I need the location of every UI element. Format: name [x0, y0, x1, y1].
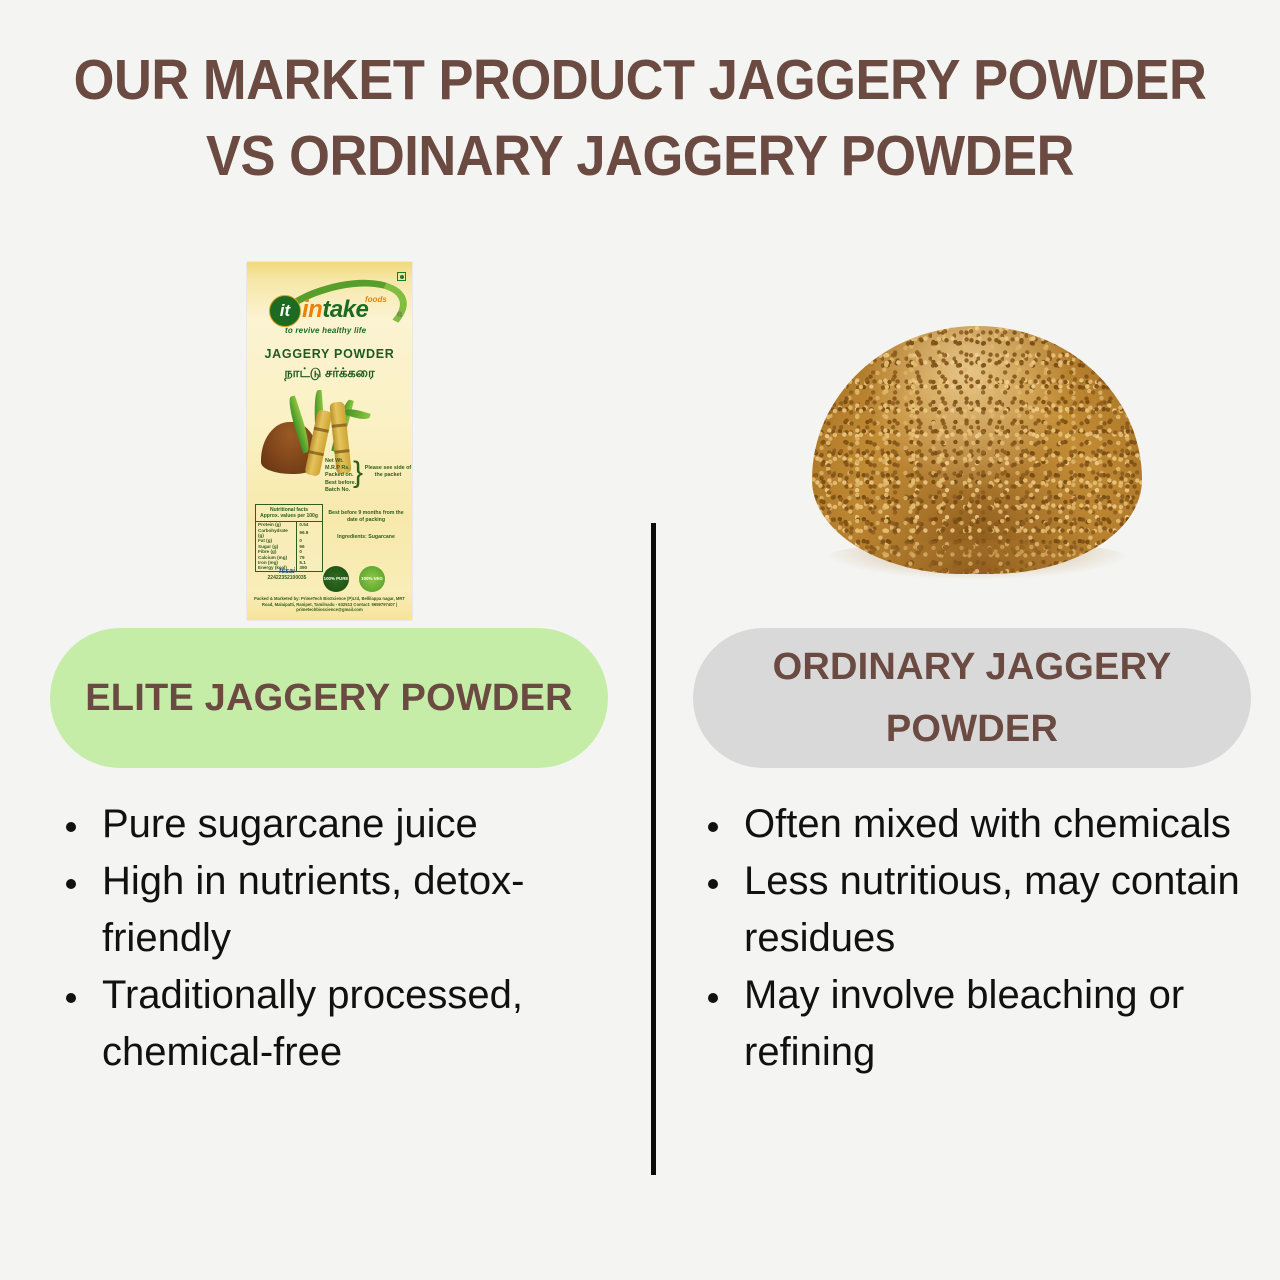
logo-foods-text: foods — [365, 295, 387, 304]
fssai-number: 22422352100035 — [255, 575, 319, 581]
logo-wordmark-take: take — [322, 296, 368, 323]
ordinary-drawbacks-list: Often mixed with chemicalsLess nutritiou… — [700, 796, 1280, 1081]
powder-grain-texture — [812, 326, 1142, 574]
badge-100-pure-icon: 100% PURE — [323, 566, 349, 592]
field-best-before: Best before. — [325, 480, 356, 487]
package-side-fields: Net Wt. M.R.P Rs. Packed on. Best before… — [325, 458, 356, 494]
nutrition-heading-line1: Nutritional facts — [257, 507, 321, 514]
brand-logo: it intake foods ® to revive healthy life — [247, 282, 412, 344]
nutrition-rows: Protein (g)0.54Carbohydrate (g)96.9Fat (… — [256, 522, 322, 571]
nutrition-label: Carbohydrate (g) — [256, 528, 297, 539]
title-line-2: VS ORDINARY JAGGERY POWDER — [51, 118, 1229, 194]
package-product-name-tamil: நாட்டு சர்க்கரை — [247, 365, 412, 382]
title-line-1: OUR MARKET PRODUCT JAGGERY POWDER — [51, 42, 1229, 118]
nutrition-facts-table: Nutritional facts Approx. values per 100… — [255, 504, 323, 572]
list-item: Pure sugarcane juice — [58, 796, 618, 853]
fssai-license: fssai 22422352100035 — [255, 568, 319, 581]
list-item: Traditionally processed, chemical-free — [58, 967, 618, 1081]
page-title: OUR MARKET PRODUCT JAGGERY POWDER VS ORD… — [0, 42, 1280, 194]
elite-benefits-list: Pure sugarcane juiceHigh in nutrients, d… — [58, 796, 618, 1081]
badge-100-veg-icon: 100% VEG — [359, 566, 385, 592]
list-item: Less nutritious, may contain residues — [700, 853, 1280, 967]
vegetarian-mark-icon — [397, 272, 406, 281]
elite-product-package-image: it intake foods ® to revive healthy life… — [247, 262, 412, 620]
package-front: it intake foods ® to revive healthy life… — [247, 262, 412, 620]
list-item: High in nutrients, detox-friendly — [58, 853, 618, 967]
logo-wordmark-in: in — [302, 296, 322, 323]
package-product-name: JAGGERY POWDER — [247, 347, 412, 361]
field-batch-no: Batch No. — [325, 487, 356, 494]
powder-pile-base-shadow — [822, 540, 1132, 580]
logo-wordmark: intake — [302, 296, 368, 324]
list-item: Often mixed with chemicals — [700, 796, 1280, 853]
package-ingredients: Ingredients: Sugarcane — [327, 534, 405, 541]
nutrition-heading-line2: Approx. values per 100g — [257, 513, 321, 520]
column-divider — [651, 523, 656, 1175]
field-packed-on: Packed on. — [325, 472, 356, 479]
package-side-note: Please see side of the packet — [364, 465, 412, 480]
fssai-logo: fssai — [255, 568, 319, 575]
elite-jaggery-powder-label: ELITE JAGGERY POWDER — [50, 628, 608, 768]
field-mrp: M.R.P Rs. — [325, 465, 356, 472]
nutrition-row: Carbohydrate (g)96.9 — [256, 528, 322, 539]
ordinary-jaggery-powder-label: ORDINARY JAGGERY POWDER — [693, 628, 1251, 768]
nutrition-value: 96.9 — [297, 528, 322, 539]
logo-badge-it: it — [269, 295, 301, 327]
ordinary-jaggery-powder-image — [812, 298, 1142, 588]
field-net-weight: Net Wt. — [325, 458, 356, 465]
nutrition-heading: Nutritional facts Approx. values per 100… — [256, 505, 322, 522]
registered-trademark-icon: ® — [397, 312, 402, 319]
brand-tagline: to revive healthy life — [285, 326, 366, 335]
package-best-before-note: Best before 9 months from the date of pa… — [327, 510, 405, 524]
brace-icon: } — [353, 458, 363, 488]
list-item: May involve bleaching or refining — [700, 967, 1280, 1081]
package-manufacturer-text: Packed & Marketed by: PrimeTech BioScien… — [251, 596, 408, 613]
